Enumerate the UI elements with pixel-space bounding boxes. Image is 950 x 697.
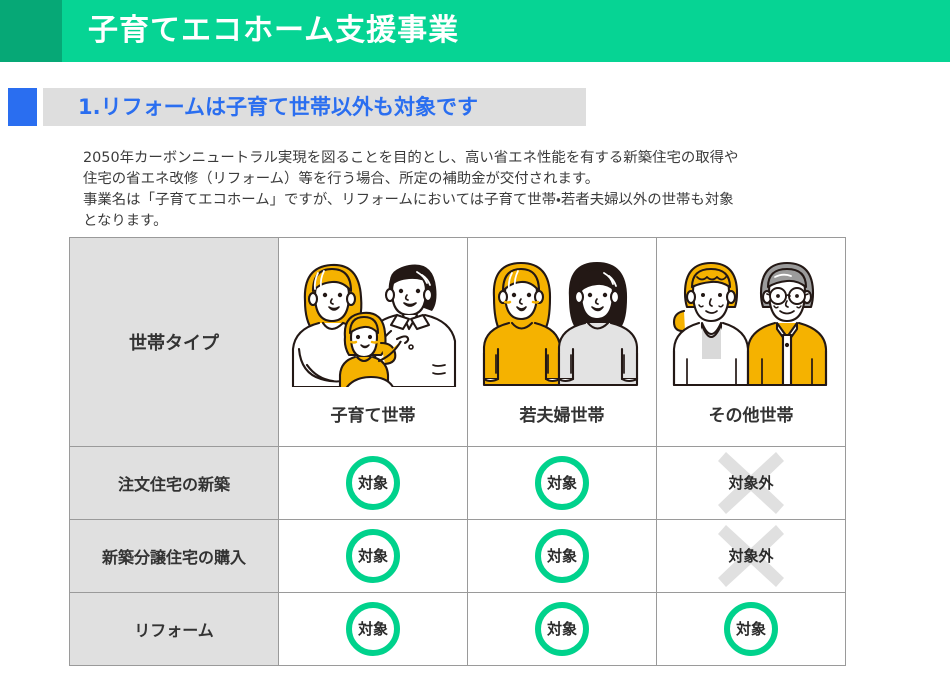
status-badge: 対象外 [728,549,773,564]
page-title: 子育てエコホーム支援事業 [88,0,459,62]
row-label-bunjo-kounyu: 新築分譲住宅の購入 [70,520,279,593]
status-cell: 対象 [279,447,468,520]
eligible-circle-icon: 対象 [346,456,400,510]
status-badge: 対象 [547,549,577,564]
status-cell: 対象外 [657,520,846,593]
ineligible-cross-icon: 対象外 [714,448,788,518]
household-type-caption: その他世帯 [709,401,794,426]
elderly-couple-illustration [671,239,831,387]
status-badge: 対象 [358,549,388,564]
household-type-caption: 若夫婦世帯 [520,401,605,426]
intro-line: 事業名は「子育てエコホーム」ですが、リフォームにおいては子育て世帯・若者夫婦以外… [83,190,873,211]
eligible-circle-icon: 対象 [346,602,400,656]
household-type-header-cell: 世帯タイプ [70,238,279,447]
row-label-chumon-jutaku: 注文住宅の新築 [70,447,279,520]
table-header-row: 世帯タイプ [70,238,846,447]
status-badge: 対象 [736,622,766,637]
household-type-cell-kosodate: 子育て世帯 [279,238,468,447]
intro-line: となります。 [83,211,873,232]
family-with-child-illustration [285,239,461,387]
row-label-reform: リフォーム [70,593,279,666]
status-cell: 対象 [468,593,657,666]
status-cell: 対象 [279,520,468,593]
status-badge: 対象 [358,476,388,491]
intro-line: 住宅の省エネ改修（リフォーム）等を行う場合、所定の補助金が交付されます。 [83,169,873,190]
section-accent-bar [8,88,37,126]
status-badge: 対象 [547,476,577,491]
eligibility-matrix-table: 世帯タイプ [69,237,846,666]
status-cell: 対象外 [657,447,846,520]
intro-paragraph: 2050年カーボンニュートラル実現を図ることを目的とし、高い省エネ性能を有する新… [83,148,873,232]
eligible-circle-icon: 対象 [346,529,400,583]
table-row: 注文住宅の新築 対象 対象 [70,447,846,520]
status-badge: 対象 [358,622,388,637]
status-cell: 対象 [468,520,657,593]
eligible-circle-icon: 対象 [724,602,778,656]
page-header: 子育てエコホーム支援事業 [0,0,950,62]
table-row: リフォーム 対象 対象 対象 [70,593,846,666]
status-cell: 対象 [657,593,846,666]
table-row: 新築分譲住宅の購入 対象 対象 [70,520,846,593]
section-heading: 1.リフォームは子育て世帯以外も対象です [0,88,950,126]
header-accent-block [0,0,62,62]
status-badge: 対象外 [728,476,773,491]
young-couple-illustration [482,239,642,387]
eligible-circle-icon: 対象 [535,602,589,656]
intro-line: 2050年カーボンニュートラル実現を図ることを目的とし、高い省エネ性能を有する新… [83,148,873,169]
section-heading-label: 1.リフォームは子育て世帯以外も対象です [78,88,478,126]
status-cell: 対象 [279,593,468,666]
household-type-cell-wakafufu: 若夫婦世帯 [468,238,657,447]
eligible-circle-icon: 対象 [535,529,589,583]
household-type-caption: 子育て世帯 [331,401,416,426]
status-badge: 対象 [547,622,577,637]
eligible-circle-icon: 対象 [535,456,589,510]
ineligible-cross-icon: 対象外 [714,521,788,591]
status-cell: 対象 [468,447,657,520]
household-type-cell-sonota: その他世帯 [657,238,846,447]
